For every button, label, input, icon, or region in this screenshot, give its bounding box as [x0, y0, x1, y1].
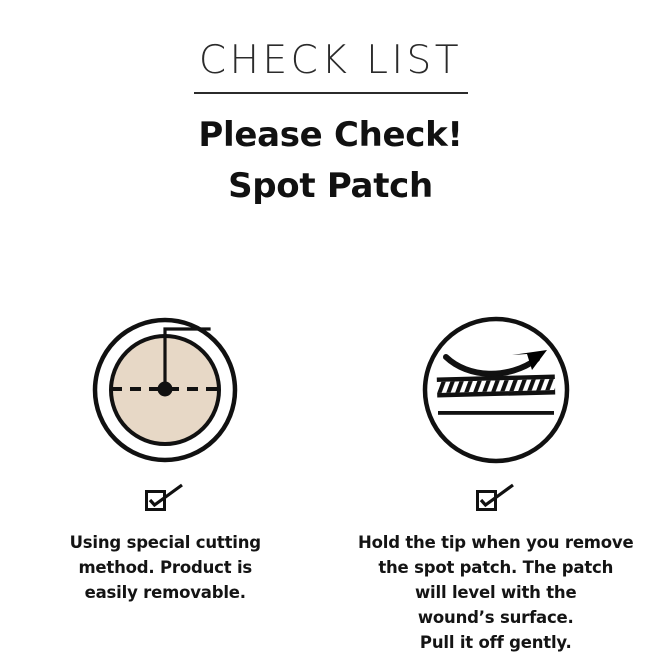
checked-checkbox-icon — [142, 482, 188, 512]
subtitle-block: Please Check! Spot Patch — [0, 110, 661, 212]
curved-peel-arrow — [446, 350, 547, 374]
skin-surface-line — [438, 411, 554, 415]
title-divider — [194, 92, 468, 94]
caption-line: will level with the — [358, 580, 633, 605]
column-removal-method: Hold the tip when you remove the spot pa… — [331, 310, 661, 655]
column-cutting-method: Using special cutting method. Product is… — [0, 310, 331, 655]
caption-removal-method: Hold the tip when you remove the spot pa… — [358, 530, 633, 655]
caption-line: Pull it off gently. — [358, 630, 633, 655]
checked-checkbox-icon — [473, 482, 519, 512]
caption-line: Using special cutting — [70, 530, 261, 555]
hatched-patch-band — [437, 375, 555, 398]
caption-line: wound’s surface. — [358, 605, 633, 630]
check-mark-left-wrap — [142, 482, 188, 512]
columns-container: Using special cutting method. Product is… — [0, 310, 661, 655]
header: CHECK LIST — [0, 38, 661, 94]
caption-line: method. Product is — [70, 555, 261, 580]
caption-line: Hold the tip when you remove — [358, 530, 633, 555]
checklist-infographic: CHECK LIST Please Check! Spot Patch — [0, 0, 661, 661]
caption-cutting-method: Using special cutting method. Product is… — [70, 530, 261, 605]
caption-line: the spot patch. The patch — [358, 555, 633, 580]
center-dot — [158, 382, 173, 397]
subtitle-line-2: Spot Patch — [0, 161, 661, 212]
check-mark-right-wrap — [473, 482, 519, 512]
spot-patch-cut-diagram-icon — [85, 310, 245, 470]
subtitle-line-1: Please Check! — [0, 110, 661, 161]
peel-patch-diagram-icon — [416, 310, 576, 470]
caption-line: easily removable. — [70, 580, 261, 605]
page-title: CHECK LIST — [0, 38, 661, 84]
